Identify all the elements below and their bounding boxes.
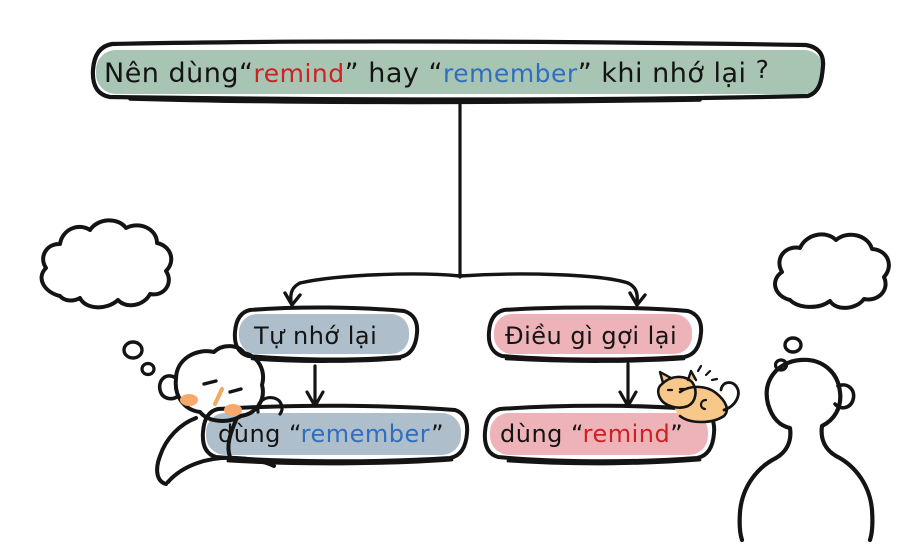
connector-left-inner-arrow (307, 366, 323, 406)
title-middle: hay (368, 58, 419, 89)
right-conclusion-close-quote: ” (670, 420, 683, 448)
title-open-quote-1: “ (239, 58, 254, 89)
thought-bubble-right (775, 234, 889, 370)
node-right-condition-label: Điều gì gợi lại (505, 322, 677, 350)
diagram-canvas: Nên dùng“remind” hay “remember” khi nhớ … (0, 0, 900, 550)
title-close-quote-2: ” (578, 58, 593, 89)
node-left-condition-label: Tự nhớ lại (254, 322, 377, 350)
connector-split-bar (285, 274, 645, 305)
title-word-remind: remind (254, 59, 345, 88)
title-tail: khi nhớ lại (601, 58, 746, 89)
blush-left (180, 394, 198, 406)
right-conclusion-word: remind (583, 420, 671, 448)
right-conclusion-lead: dùng (500, 420, 563, 448)
title-word-remember: remember (443, 59, 578, 88)
title-lead: Nên dùng (104, 58, 239, 89)
node-right-conclusion-label: dùng “remind” (500, 420, 683, 448)
nose-stroke (215, 389, 222, 404)
left-conclusion-close-quote: ” (431, 420, 444, 448)
thought-dot-small (142, 364, 154, 375)
left-conclusion-open-quote: “ (289, 420, 301, 448)
right-conclusion-open-quote: “ (571, 420, 583, 448)
figure-right-person (740, 360, 873, 540)
page-title: Nên dùng“remind” hay “remember” khi nhớ … (104, 58, 769, 89)
thought-dot-large-right (785, 338, 801, 352)
thought-bubble-left (42, 220, 172, 374)
eye-left (204, 381, 216, 384)
blush-right (224, 404, 242, 416)
title-close-quote-1: ” (345, 58, 360, 89)
connector-right-inner-arrow (620, 364, 636, 406)
title-question-mark: ? (756, 55, 770, 84)
left-conclusion-lead: dùng (218, 420, 281, 448)
title-open-quote-2: “ (428, 58, 443, 89)
left-conclusion-word: remember (301, 420, 432, 448)
node-left-conclusion-label: dùng “remember” (218, 420, 444, 448)
eye-right (230, 389, 241, 392)
thought-dot-large (124, 342, 142, 358)
